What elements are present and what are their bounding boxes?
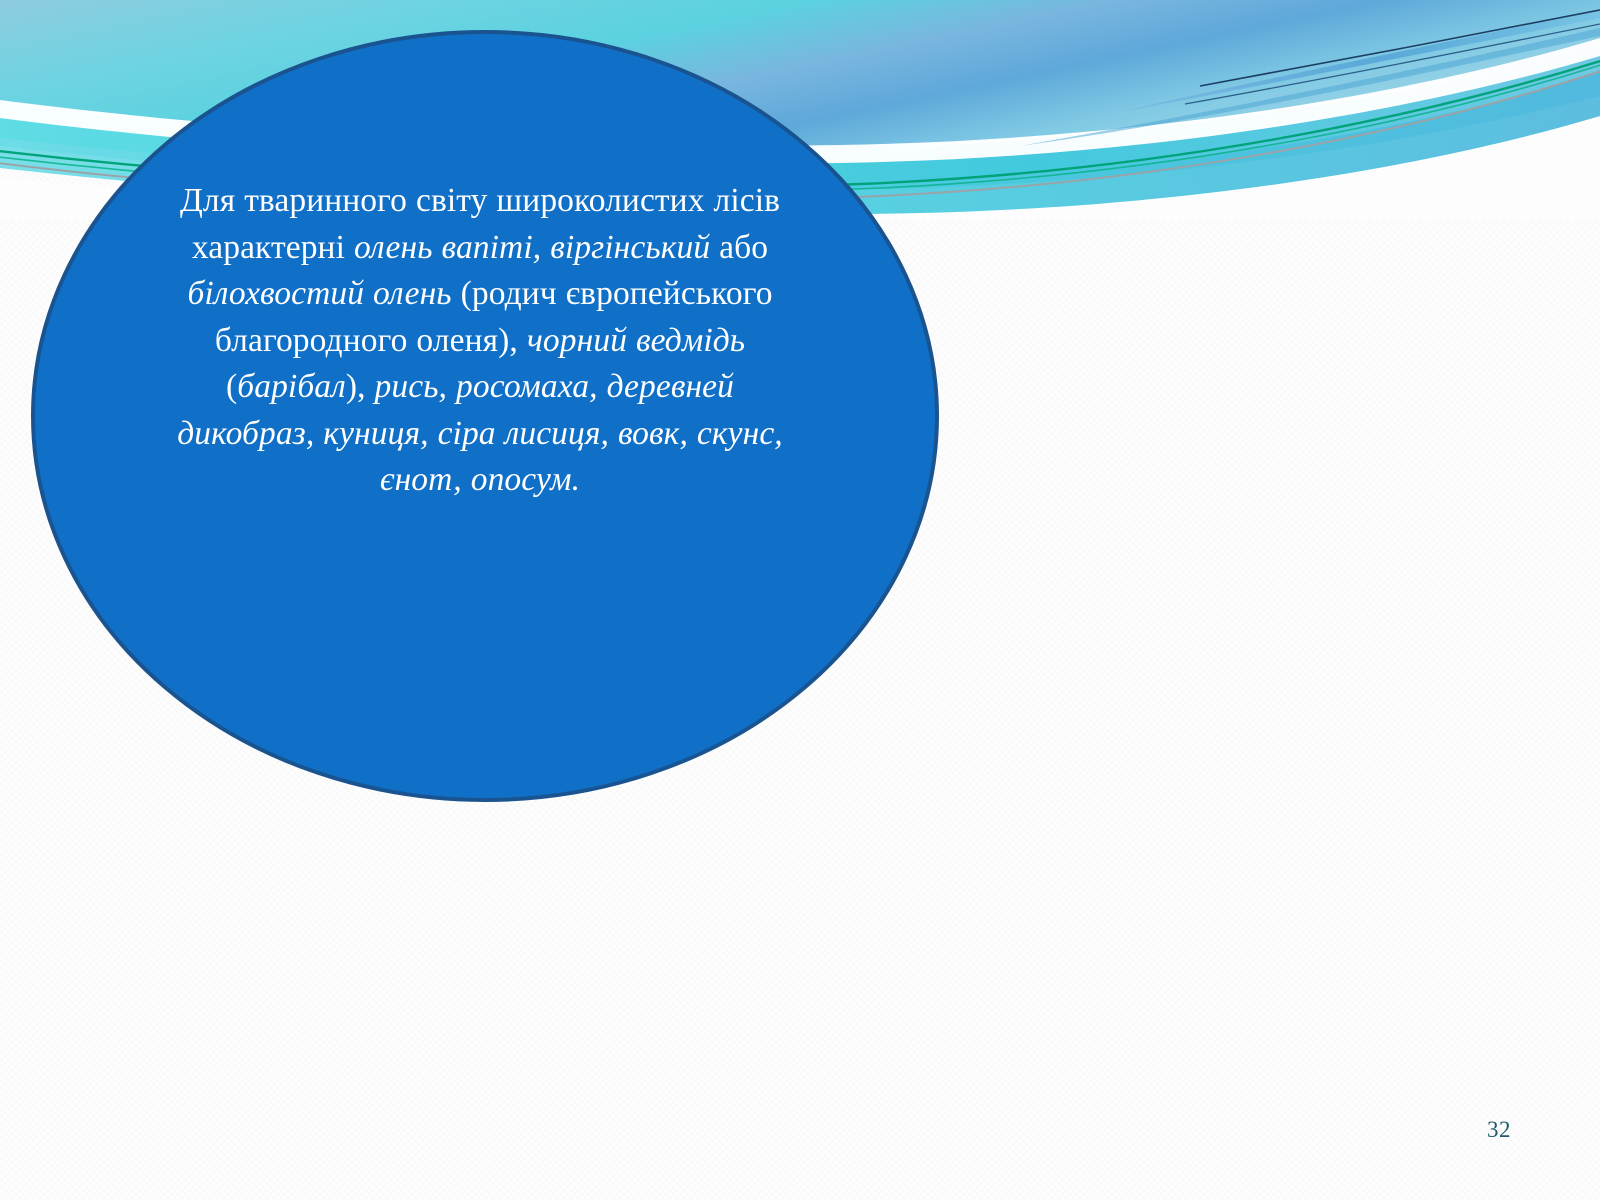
text-run-7: барібал xyxy=(237,368,346,405)
text-run-8: ), xyxy=(346,368,375,405)
text-run-6: ( xyxy=(226,368,237,405)
ellipse-body-text: Для тваринного світу широколистих лісів … xyxy=(170,178,790,504)
page-number: 32 xyxy=(1487,1117,1511,1143)
text-run-2: або xyxy=(710,229,768,266)
text-run-3: білохвостий олень xyxy=(187,275,451,312)
text-run-1: олень вапіті, віргінський xyxy=(354,229,710,266)
slide-canvas: Для тваринного світу широколистих лісів … xyxy=(0,0,1600,1200)
text-run-5: чорний ведмідь xyxy=(527,322,745,359)
